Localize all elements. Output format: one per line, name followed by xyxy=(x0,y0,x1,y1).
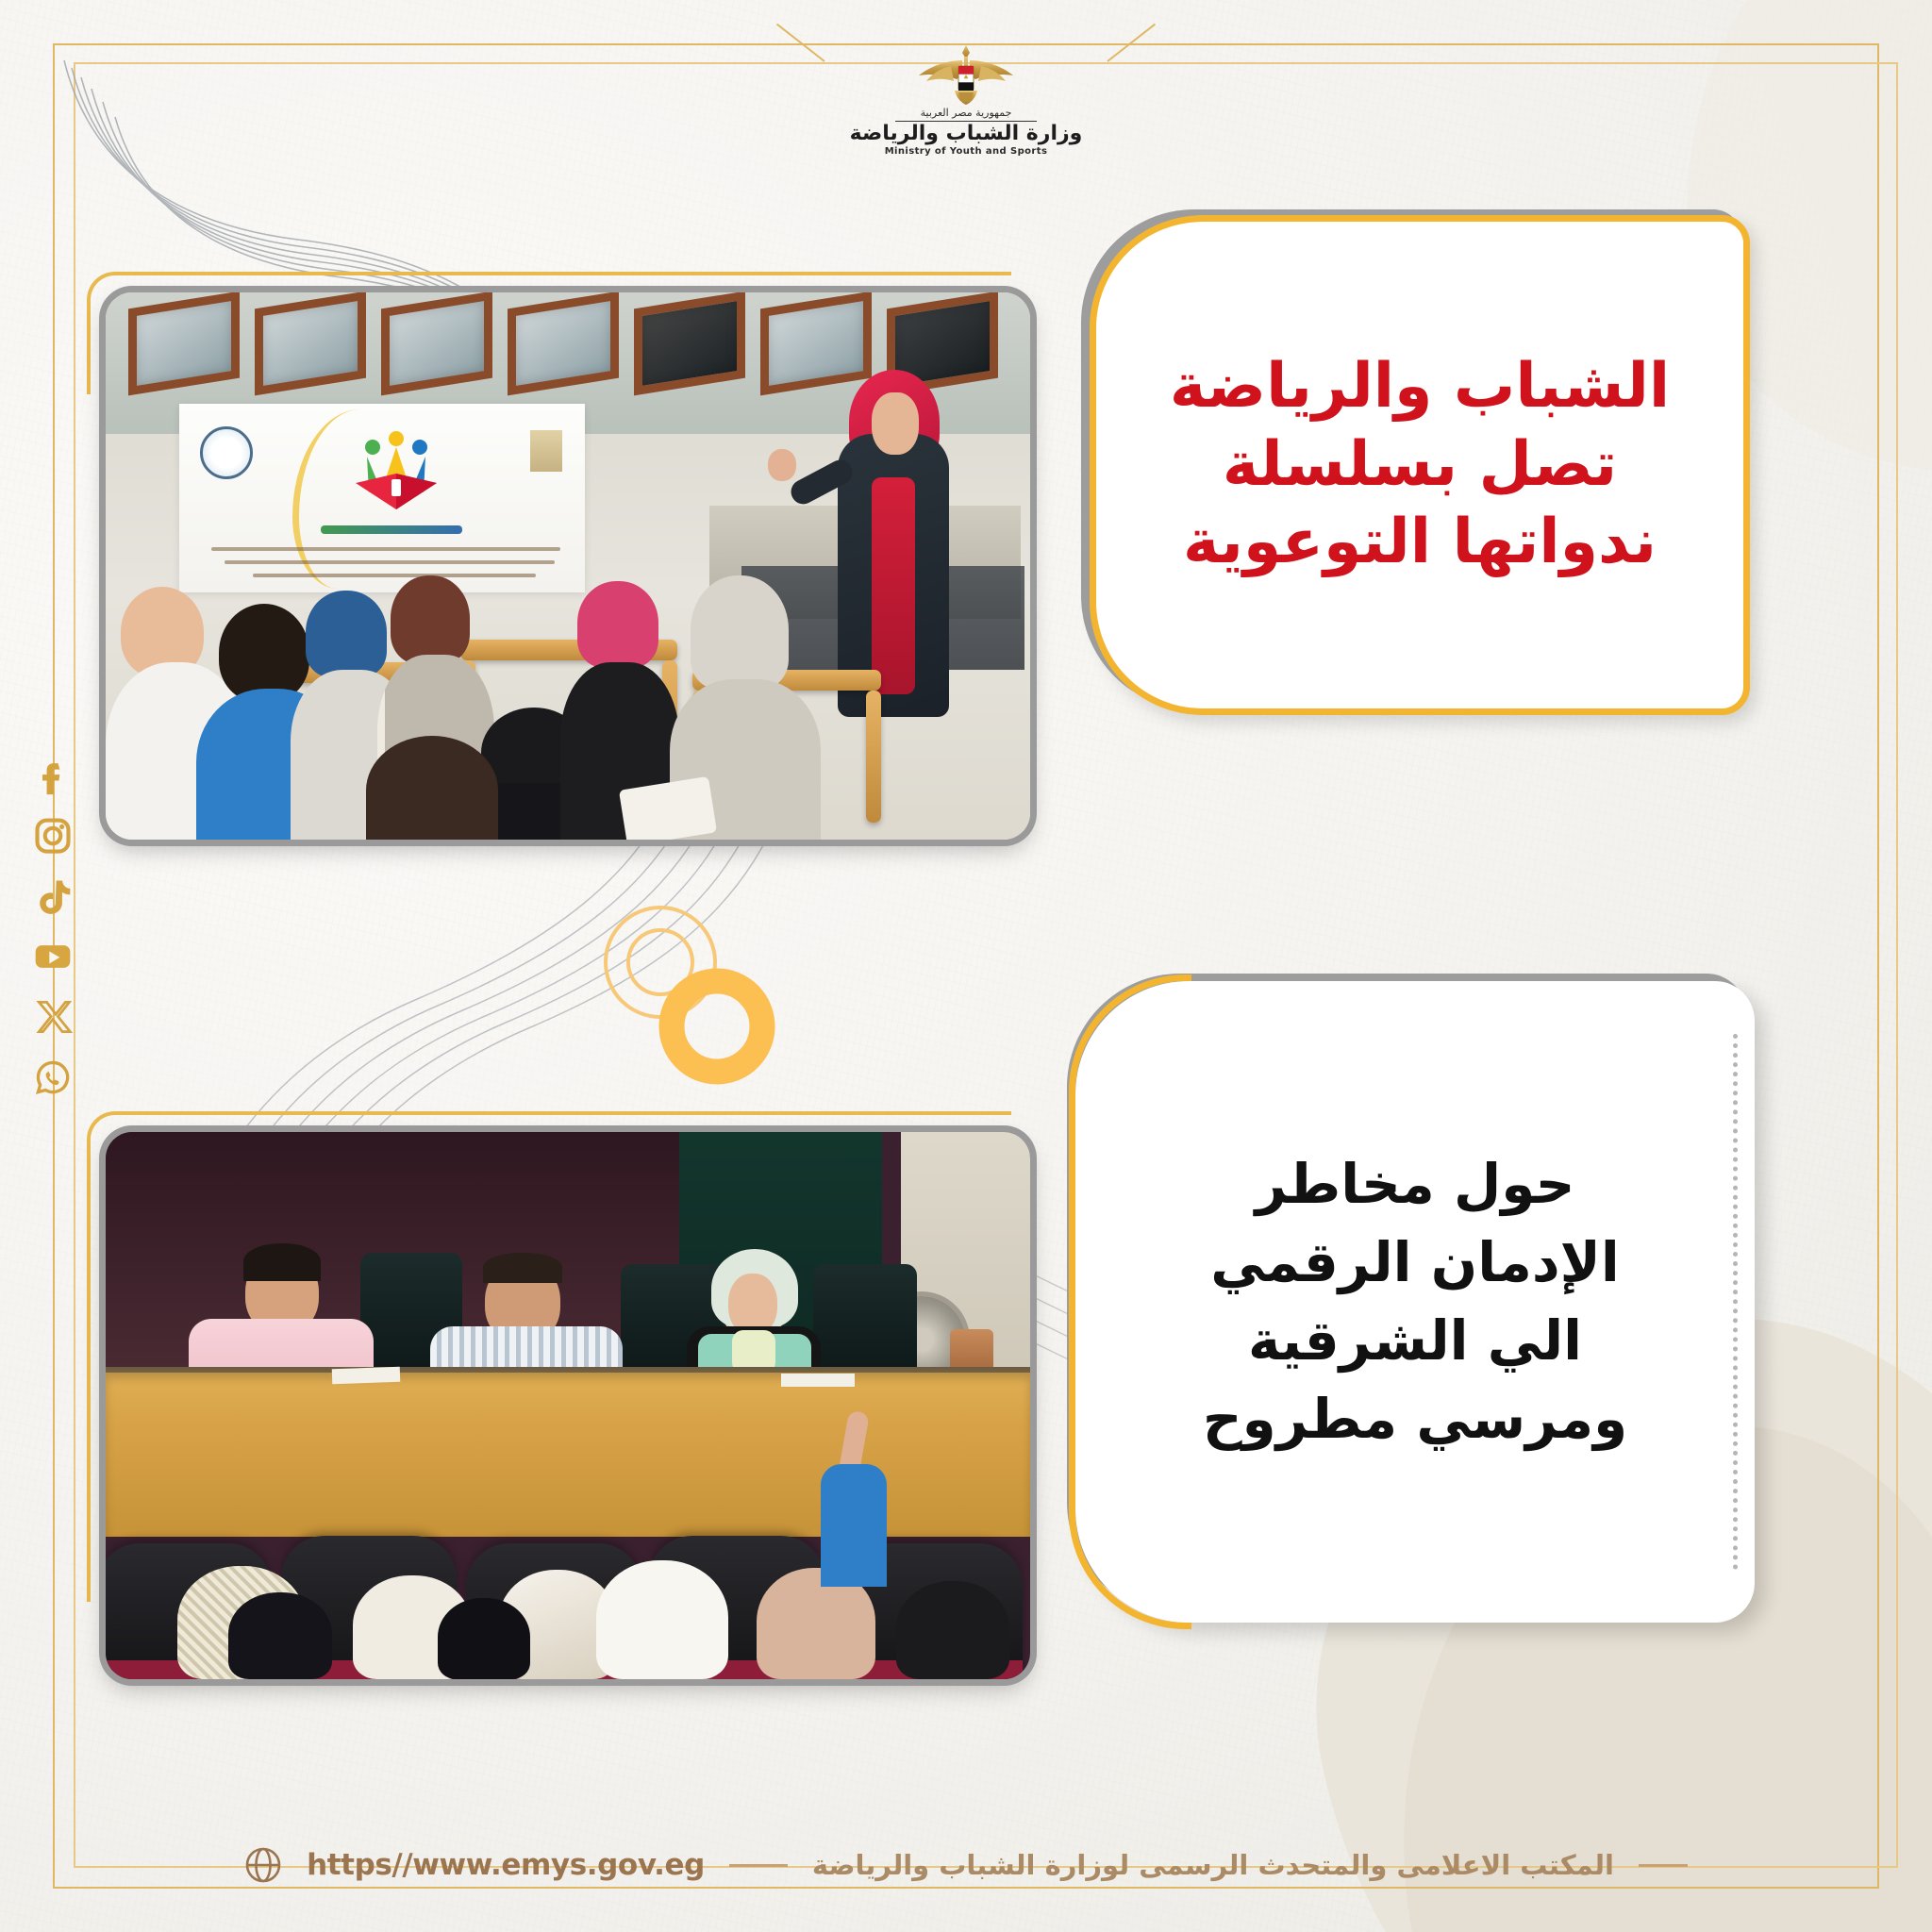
social-media-rail[interactable] xyxy=(32,755,74,1098)
instagram-icon[interactable] xyxy=(32,815,74,857)
facebook-icon[interactable] xyxy=(32,755,74,796)
whatsapp-icon[interactable] xyxy=(32,1057,74,1098)
subhead-line-4: ومرسي مطروح xyxy=(1203,1389,1627,1450)
footer-office-text: المكتب الاعلامى والمتحدث الرسمى لوزارة ا… xyxy=(812,1849,1614,1881)
subhead-card: حول مخاطر الإدمان الرقمي الي الشرقية ومر… xyxy=(1075,981,1755,1623)
logo-notch-left xyxy=(776,24,825,62)
subhead-line-2: الإدمان الرقمي xyxy=(1210,1232,1620,1293)
x-twitter-icon[interactable] xyxy=(32,996,74,1038)
logo-country-text: جمهورية مصر العربية xyxy=(824,107,1108,119)
subhead-line-3: الي الشرقية xyxy=(1248,1310,1582,1372)
headline-card: الشباب والرياضة تصل بسلسلة ندواتها التوع… xyxy=(1090,215,1750,715)
headline-line-3: ندواتها التوعوية xyxy=(1183,508,1657,577)
poster-canvas: جمهورية مصر العربية وزارة الشباب والرياض… xyxy=(0,0,1932,1932)
footer-divider-left xyxy=(729,1864,788,1867)
footer-bar: https//www.emys.gov.eg المكتب الاعلامى و… xyxy=(0,1823,1932,1907)
ministry-logo: جمهورية مصر العربية وزارة الشباب والرياض… xyxy=(824,43,1108,157)
tiktok-icon[interactable] xyxy=(32,875,74,917)
logo-notch-right xyxy=(1107,24,1156,62)
logo-ministry-arabic: وزارة الشباب والرياضة xyxy=(824,123,1108,144)
headline-line-1: الشباب والرياضة xyxy=(1170,353,1670,422)
decorative-circles xyxy=(577,894,823,1092)
logo-ministry-english: Ministry of Youth and Sports xyxy=(824,146,1108,157)
egypt-eagle-emblem-icon xyxy=(909,43,1023,106)
globe-icon xyxy=(244,1846,282,1884)
photo-seminar-speaker xyxy=(106,292,1030,840)
footer-divider-right xyxy=(1639,1864,1688,1867)
subhead-line-1: حول مخاطر xyxy=(1256,1154,1575,1215)
headline-line-2: تصل بسلسلة xyxy=(1223,431,1617,500)
photo-panel-table xyxy=(106,1132,1030,1679)
youtube-icon[interactable] xyxy=(32,936,74,977)
footer-url[interactable]: https//www.emys.gov.eg xyxy=(307,1848,705,1882)
